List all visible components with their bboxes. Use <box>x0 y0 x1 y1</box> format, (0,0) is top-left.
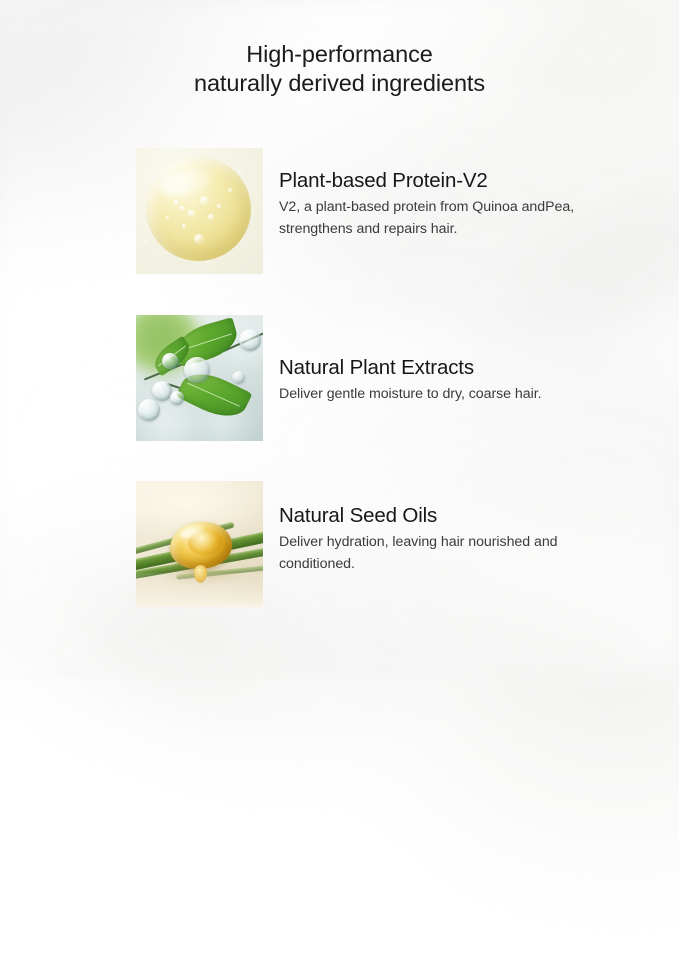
page-title: High-performance naturally derived ingre… <box>0 40 679 98</box>
ingredient-heading: Natural Plant Extracts <box>279 355 609 381</box>
ingredient-description: V2, a plant-based protein from Quinoa an… <box>279 197 609 240</box>
ingredient-description: Deliver hydration, leaving hair nourishe… <box>279 532 609 575</box>
golden-oil-on-grass-blades-image <box>136 481 263 607</box>
ingredient-item-plant-based-protein: Plant-based Protein-V2 V2, a plant-based… <box>136 148 606 274</box>
ingredient-heading: Natural Seed Oils <box>279 503 609 529</box>
green-leaves-with-water-droplets-image <box>136 315 263 441</box>
ingredient-item-natural-plant-extracts: Natural Plant Extracts Deliver gentle mo… <box>136 315 606 441</box>
page-title-line-2: naturally derived ingredients <box>0 69 679 98</box>
ingredient-description: Deliver gentle moisture to dry, coarse h… <box>279 384 609 406</box>
ingredient-text-block: Plant-based Protein-V2 V2, a plant-based… <box>279 168 609 240</box>
ingredient-text-block: Natural Seed Oils Deliver hydration, lea… <box>279 503 609 575</box>
ingredient-heading: Plant-based Protein-V2 <box>279 168 609 194</box>
pale-yellow-serum-droplet-image <box>136 148 263 274</box>
ingredient-item-natural-seed-oils: Natural Seed Oils Deliver hydration, lea… <box>136 481 606 607</box>
page-title-line-1: High-performance <box>246 41 432 67</box>
ingredient-text-block: Natural Plant Extracts Deliver gentle mo… <box>279 355 609 406</box>
